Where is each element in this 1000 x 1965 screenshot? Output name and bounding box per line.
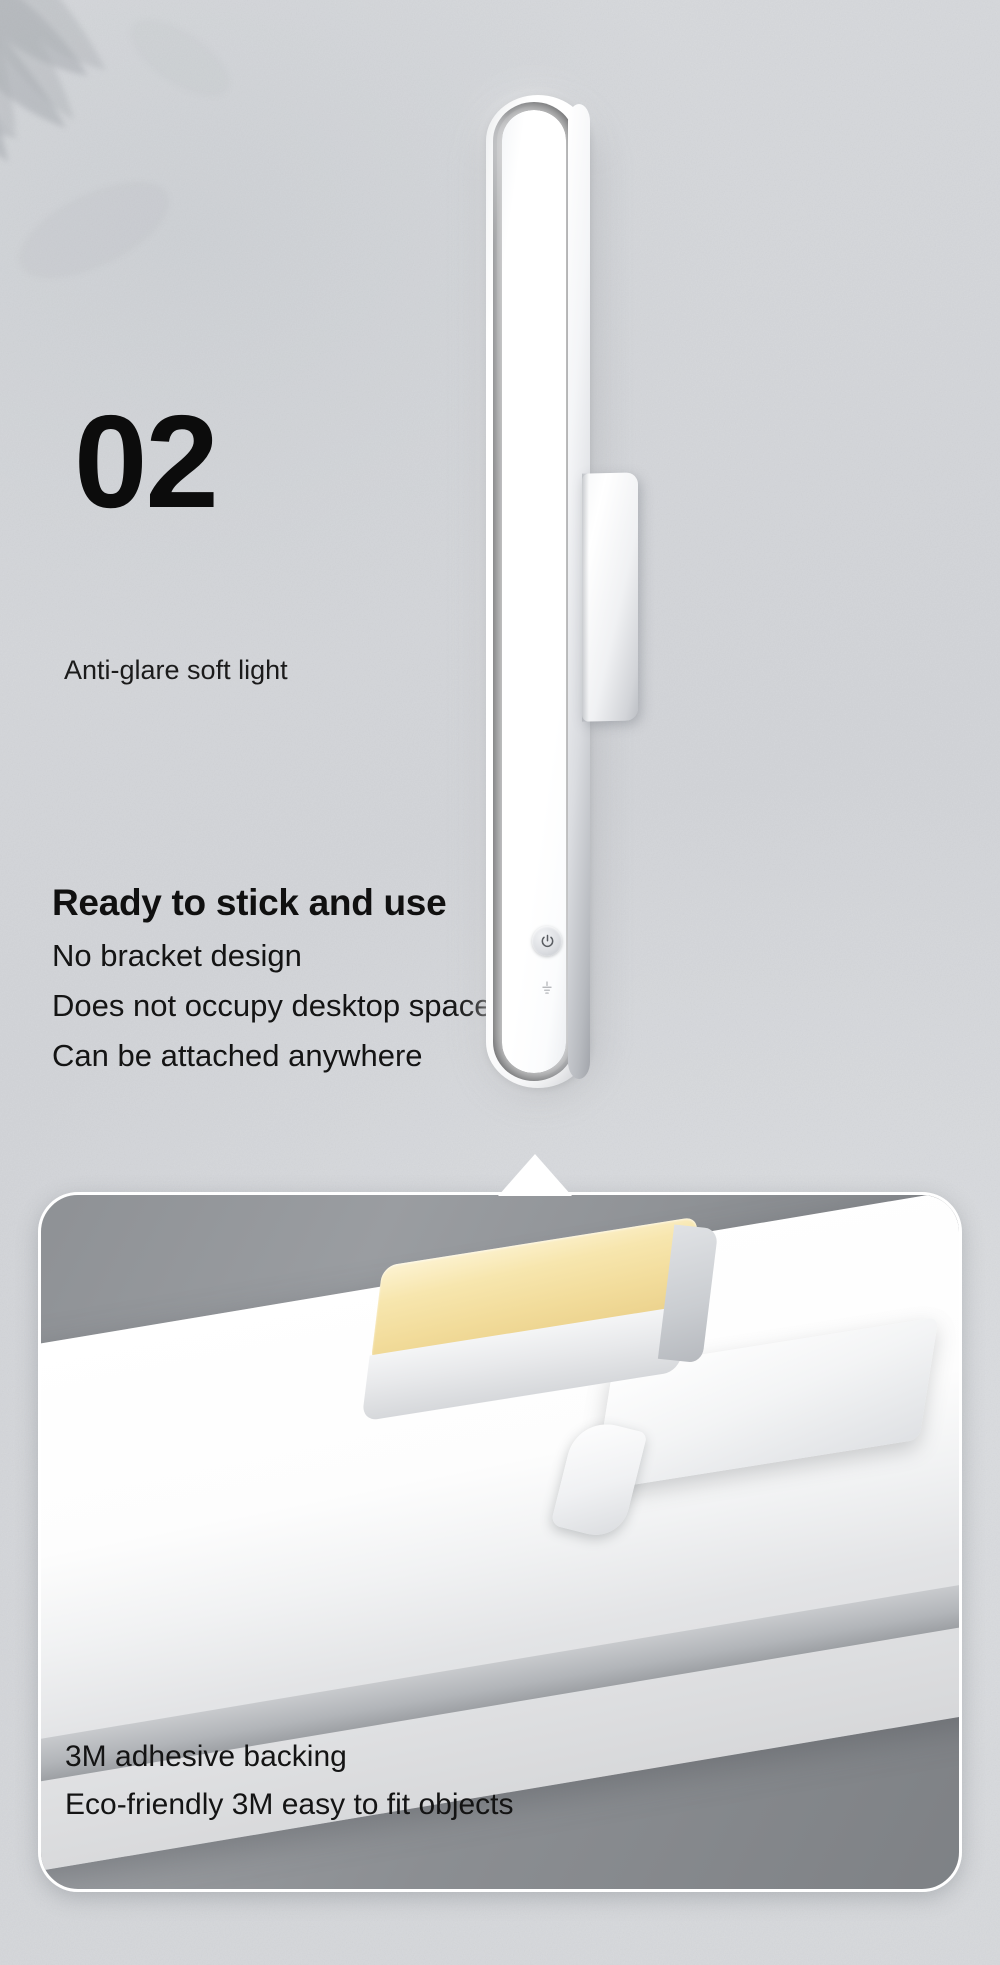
feature-bullet-1: No bracket design (52, 938, 302, 974)
feature-bullet-3: Can be attached anywhere (52, 1038, 423, 1074)
detail-caption-1: 3M adhesive backing (65, 1740, 347, 1774)
feature-bullet-2: Does not occupy desktop space (52, 988, 491, 1024)
wall-mount-bracket (582, 472, 638, 721)
power-button[interactable] (532, 926, 562, 956)
feature-number-subtitle: Anti-glare soft light (64, 655, 288, 686)
led-bar-lamp (478, 88, 678, 1108)
panel-pointer-notch (496, 1152, 574, 1198)
adhesive-detail-panel: 3M adhesive backing Eco-friendly 3M easy… (38, 1192, 962, 1892)
background-stage: 02 Anti-glare soft light Ready to stick … (0, 0, 1000, 1965)
detail-caption-2: Eco-friendly 3M easy to fit objects (65, 1788, 514, 1822)
brightness-indicator-icon (540, 980, 554, 998)
palm-leaf-shadow-icon (0, 0, 310, 360)
power-icon (539, 933, 556, 950)
feature-headline: Ready to stick and use (52, 882, 446, 924)
feature-number: 02 (74, 396, 217, 528)
